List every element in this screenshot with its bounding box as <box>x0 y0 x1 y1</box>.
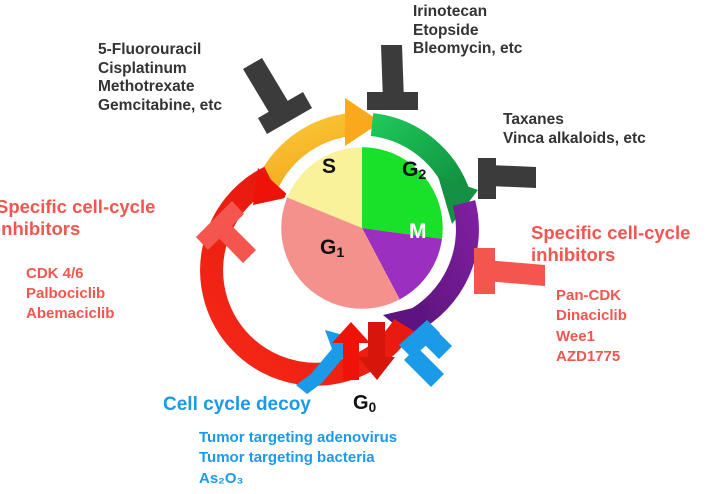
annotation-top-left-line-4: Gemcitabine, etc <box>98 97 222 116</box>
annotation-right-upper-line-1: Taxanes <box>503 111 646 130</box>
annotation-top-right-line-3: Bleomycin, etc <box>413 40 522 59</box>
phase-label-s: S <box>322 155 336 180</box>
annotation-right-drug-list: Pan-CDK Dinaciclib Wee1 AZD1775 <box>556 286 627 367</box>
annotation-right-drug-3: Wee1 <box>556 327 627 347</box>
annotation-left-heading-line-1: Specific cell-cycle <box>0 196 155 218</box>
annotation-right-heading-line-1: Specific cell-cycle <box>531 222 690 244</box>
annotation-bottom-drug-list: Tumor targeting adenovirus Tumor targeti… <box>199 428 397 489</box>
annotation-right-upper-line-2: Vinca alkaloids, etc <box>503 130 646 149</box>
annotation-top-left-line-2: Cisplatinum <box>98 60 222 79</box>
annotation-right-drug-1: Pan-CDK <box>556 286 627 306</box>
annotation-top-left: 5-Fluorouracil Cisplatinum Methotrexate … <box>98 41 222 115</box>
annotation-bottom-drug-3: As₂O₃ <box>199 469 397 489</box>
inhibitor-marker-top-left <box>243 58 312 134</box>
annotation-left-drug-list: CDK 4/6 Palbociclib Abemaciclib <box>26 264 114 323</box>
annotation-left-heading: Specific cell-cycle inhibitors <box>0 196 155 240</box>
annotation-right-drug-4: AZD1775 <box>556 347 627 367</box>
inhibitor-marker-right-upper <box>478 158 536 199</box>
annotation-top-left-line-1: 5-Fluorouracil <box>98 41 222 60</box>
annotation-top-right-line-1: Irinotecan <box>413 3 522 22</box>
phase-label-m: M <box>409 220 427 245</box>
annotation-bottom-drug-2: Tumor targeting bacteria <box>199 448 397 468</box>
annotation-right-heading-line-2: inhibitors <box>531 244 690 266</box>
annotation-bottom-heading: Cell cycle decoy <box>163 394 311 416</box>
annotation-top-left-line-3: Methotrexate <box>98 78 222 97</box>
annotation-top-right-line-2: Etopside <box>413 22 522 41</box>
phase-label-g0: G0 <box>353 392 376 416</box>
annotation-right-upper: Taxanes Vinca alkaloids, etc <box>503 111 646 148</box>
phase-label-g2: G2 <box>402 158 426 184</box>
figure-canvas: S G2 M G1 G0 5-Fluorouracil Cisplatinum … <box>0 0 720 494</box>
phase-label-g1: G1 <box>320 236 344 262</box>
annotation-left-drug-2: Palbociclib <box>26 284 114 304</box>
inhibitor-marker-top-right <box>367 45 418 110</box>
annotation-bottom-drug-1: Tumor targeting adenovirus <box>199 428 397 448</box>
annotation-right-drug-2: Dinaciclib <box>556 306 627 326</box>
annotation-left-drug-1: CDK 4/6 <box>26 264 114 284</box>
annotation-right-heading: Specific cell-cycle inhibitors <box>531 222 690 266</box>
annotation-top-right: Irinotecan Etopside Bleomycin, etc <box>413 3 522 59</box>
annotation-left-heading-line-2: inhibitors <box>0 218 155 240</box>
annotation-left-drug-3: Abemaciclib <box>26 304 114 324</box>
